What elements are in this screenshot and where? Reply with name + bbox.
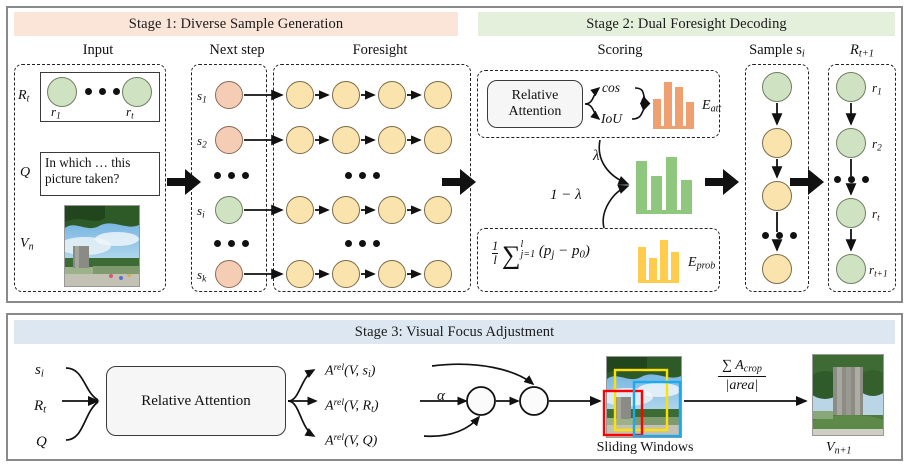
bar (686, 102, 694, 126)
e-att-label: Eatt (702, 98, 721, 115)
rt-label: Rt (18, 88, 29, 105)
rt-sublabel: rt (126, 104, 134, 121)
label-sample-sub: i (802, 49, 805, 60)
plus-op-label: + (527, 395, 537, 415)
bar (675, 87, 683, 126)
bar (653, 99, 661, 126)
prob-formula: 1l ∑lj=1 (pj − p0) (492, 240, 590, 270)
chart-e-prob-baseline (638, 280, 679, 283)
vn-label: Vn (20, 236, 34, 253)
foresight-node (332, 260, 360, 288)
next-step-node-s1 (215, 81, 243, 109)
v-next-label: Vn+1 (826, 440, 851, 457)
foresight-node (378, 196, 406, 224)
r-next-node-rt1 (836, 254, 866, 284)
foresight-node (332, 81, 360, 109)
r1-sublabel: r1 (51, 104, 61, 121)
label-scoring: Scoring (560, 42, 680, 59)
chart-fused-baseline (636, 210, 692, 214)
bar (649, 258, 657, 280)
bar (660, 240, 668, 280)
chart-e-att (653, 82, 694, 126)
r-next-node-r1 (836, 72, 866, 102)
input-image (64, 205, 140, 287)
relative-attention-box-stage3[interactable]: Relative Attention (106, 366, 286, 436)
q-label: Q (20, 165, 30, 181)
output-image (812, 354, 884, 436)
r-next-node-rt (836, 198, 866, 228)
crop-denominator: |area| (718, 377, 766, 394)
stage3-output-rt: Arel(V, Rt) (325, 397, 379, 415)
r-next-ellipsis (834, 176, 869, 183)
chart-fused (636, 157, 692, 210)
bar (651, 176, 662, 210)
foresight-node (332, 126, 360, 154)
foresight-node (286, 196, 314, 224)
sliding-windows-image (606, 356, 682, 438)
next-step-ellipsis-2 (214, 240, 249, 247)
stage3-title: Stage 3: Visual Focus Adjustment (355, 324, 554, 341)
node-rt (122, 77, 152, 107)
cos-label: cos (602, 80, 620, 96)
sliding-windows-caption: Sliding Windows (590, 440, 700, 456)
relative-attention-box-stage2: RelativeAttention (487, 80, 583, 128)
r-next-label-rt: rt (872, 206, 880, 223)
bar (638, 247, 646, 280)
bar (671, 252, 679, 280)
foresight-node (424, 196, 452, 224)
sample-chain-ellipsis (762, 232, 797, 239)
foresight-node (286, 81, 314, 109)
r-next-label-r1: r1 (872, 80, 882, 97)
ra-line1: Relative (512, 88, 559, 103)
figure-root: Stage 1: Diverse Sample Generation Stage… (0, 0, 909, 467)
r-next-node-r2 (836, 128, 866, 158)
sample-chain-node (762, 181, 792, 211)
stage3-input-rt: Rt (34, 398, 46, 416)
alpha-label: α (437, 388, 445, 405)
stage1-title: Stage 1: Diverse Sample Generation (129, 16, 343, 33)
foresight-node (286, 260, 314, 288)
question-box: In which … this picture taken? (40, 152, 160, 196)
foresight-node (332, 196, 360, 224)
stage3-output-q: Arel(V, Q) (325, 432, 377, 449)
e-prob-label: Eprob (688, 255, 715, 272)
stage3-output-si: Arel(V, si) (325, 362, 375, 380)
iou-label: IoU (601, 111, 622, 127)
sample-label-s2: s2 (197, 133, 207, 150)
foresight-node (286, 126, 314, 154)
label-foresight: Foresight (290, 42, 470, 59)
foresight-node (378, 81, 406, 109)
label-r-next: Rt+1 (828, 42, 896, 60)
sample-label-sk: sk (197, 267, 206, 284)
label-next-step: Next step (185, 42, 289, 59)
stage1-header: Stage 1: Diverse Sample Generation (14, 12, 458, 36)
label-r-next-sub: t+1 (859, 49, 874, 60)
lambda-label: λ (593, 148, 600, 165)
foresight-node (378, 126, 406, 154)
sample-label-si: si (197, 203, 205, 220)
question-line-1: In which … this (45, 155, 155, 171)
crop-ratio-formula: ∑ Acrop |area| (718, 358, 766, 394)
bar (681, 180, 692, 210)
foresight-node (424, 126, 452, 154)
chart-e-att-baseline (653, 126, 694, 129)
rt-ellipsis (85, 88, 120, 95)
r-next-label-rt1: rt+1 (869, 262, 888, 279)
stage2-header: Stage 2: Dual Foresight Decoding (478, 12, 895, 36)
sample-chain-node (762, 72, 792, 102)
foresight-ellipsis-2 (345, 240, 380, 247)
sample-chain-node (762, 254, 792, 284)
chart-e-prob (638, 240, 679, 280)
bar (664, 82, 672, 126)
next-step-node-sk (215, 260, 243, 288)
next-step-ellipsis-1 (214, 172, 249, 179)
stage2-title: Stage 2: Dual Foresight Decoding (586, 16, 787, 33)
stage3-input-si: si (35, 362, 44, 380)
bar (636, 161, 647, 210)
foresight-node (424, 260, 452, 288)
crop-numerator: ∑ Acrop (718, 358, 766, 377)
minus-op-label: − (473, 396, 483, 416)
sample-chain-node (762, 128, 792, 158)
next-step-node-s2 (215, 126, 243, 154)
foresight-node (424, 81, 452, 109)
foresight-node (378, 260, 406, 288)
stage3-header: Stage 3: Visual Focus Adjustment (14, 320, 895, 344)
label-sample: Sample si (722, 42, 832, 60)
one-minus-lambda-label: 1 − λ (550, 187, 582, 204)
next-step-node-si (215, 196, 243, 224)
stage3-input-q: Q (36, 434, 47, 451)
relative-attention-label: Relative Attention (141, 393, 251, 410)
label-input: Input (38, 42, 158, 59)
bar (666, 157, 677, 210)
r-next-label-r2: r2 (872, 136, 882, 153)
question-line-2: picture taken? (45, 171, 155, 187)
foresight-ellipsis-1 (345, 172, 380, 179)
node-r1 (47, 77, 77, 107)
sample-label-s1: s1 (197, 88, 207, 105)
ra-line2: Attention (509, 104, 562, 119)
